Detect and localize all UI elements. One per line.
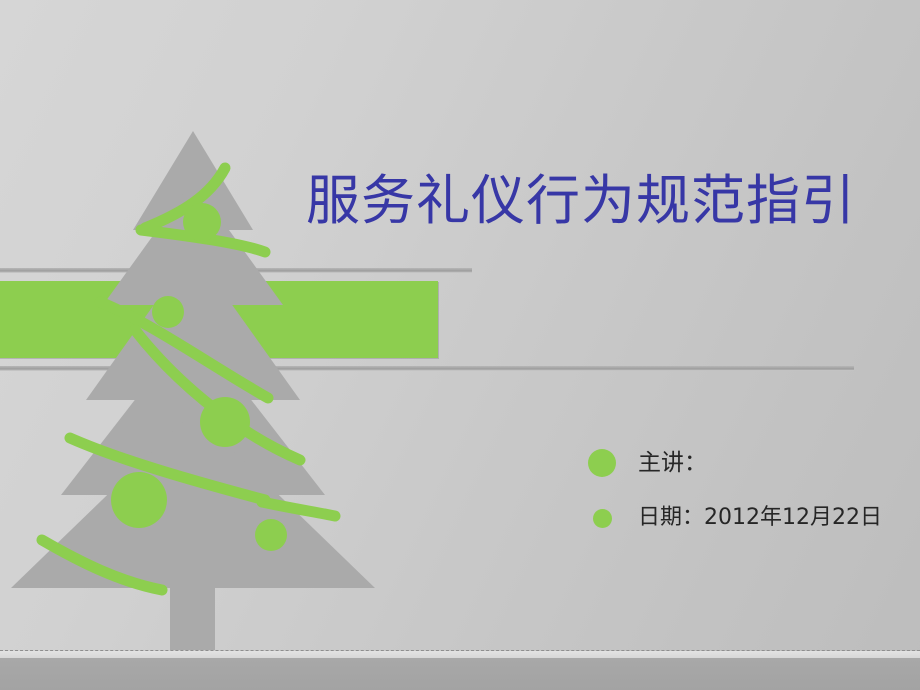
garland-strand-2 — [141, 230, 265, 252]
green-dot-icon — [588, 449, 616, 477]
tree-garland — [42, 168, 335, 590]
presentation-slide: 服务礼仪行为规范指引 主讲： 日期：2012年12月22日 — [0, 0, 920, 690]
footer-highlight-strip — [0, 651, 920, 658]
bullet-item-presenter-label: 主讲： — [638, 450, 707, 476]
ornament-5 — [255, 519, 287, 551]
ornament-3 — [200, 397, 250, 447]
tree-trunk — [170, 588, 215, 650]
tree-ornaments — [111, 203, 287, 551]
green-accent-band — [0, 281, 438, 358]
bullet-item-date-label: 日期：2012年12月22日 — [638, 505, 882, 531]
green-dot-icon — [593, 509, 612, 528]
divider-line-top — [0, 268, 472, 273]
garland-strand-7 — [42, 540, 162, 590]
garland-strand-1 — [145, 168, 225, 228]
tree-tier-5 — [11, 412, 375, 588]
tree-tier-1 — [133, 131, 253, 230]
garland-strand-6 — [262, 502, 335, 516]
bullet-item-date: 日期：2012年12月22日 — [588, 494, 908, 542]
divider-line-bottom — [0, 366, 854, 371]
footer-band — [0, 658, 920, 690]
ornament-4 — [111, 472, 167, 528]
ornament-1 — [183, 203, 221, 241]
slide-title: 服务礼仪行为规范指引 — [306, 168, 886, 234]
slide-bullet-list: 主讲： 日期：2012年12月22日 — [588, 432, 908, 542]
bullet-item-presenter: 主讲： — [588, 432, 908, 494]
garland-strand-5 — [70, 438, 265, 500]
